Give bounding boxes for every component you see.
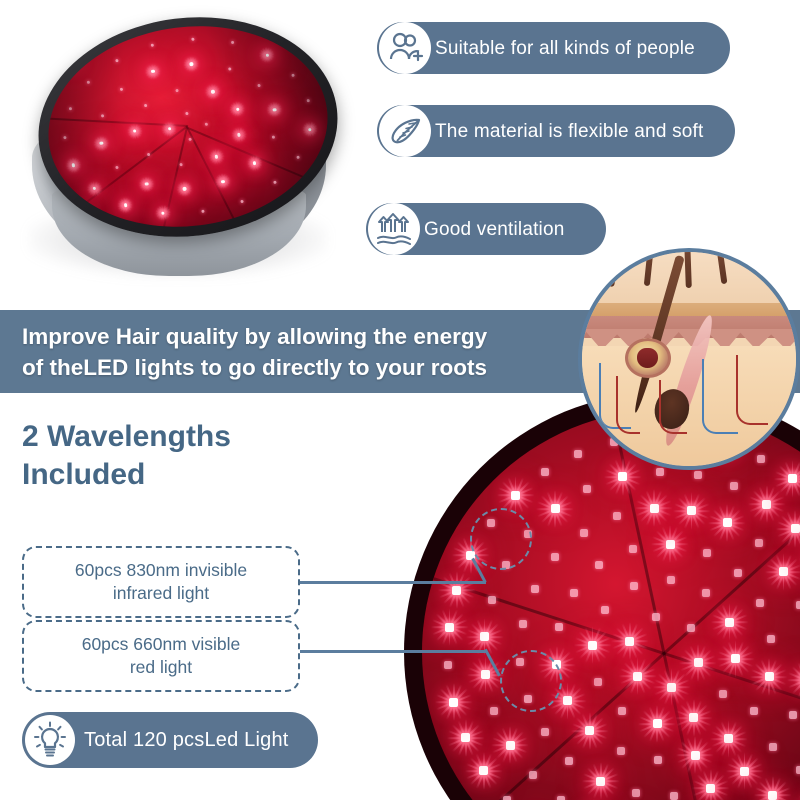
hair-follicle-diagram [578,248,800,470]
led-light [555,623,563,631]
cap-fabric-seam [187,127,317,184]
led-light [617,747,625,755]
panel-fabric-seam [664,652,800,730]
led-light [570,589,578,597]
led-light [731,654,740,663]
led-light [541,728,549,736]
led-light [271,136,274,139]
total-led-pill[interactable]: Total 120 pcsLed Light [22,712,318,768]
led-light [506,741,515,750]
led-light [273,181,276,184]
led-light [580,529,588,537]
feature-pill-ventilation[interactable]: Good ventilation [366,203,606,255]
total-led-label: Total 120 pcsLed Light [84,730,289,750]
led-light [273,108,277,112]
led-light [725,618,734,627]
led-light [789,711,797,719]
feature-pill-people[interactable]: Suitable for all kinds of people [377,22,730,74]
led-light [563,696,572,705]
led-light [691,751,700,760]
led-light [182,187,186,191]
led-light [588,641,597,650]
blood-vessel-artery-3 [659,380,687,433]
product-photo-cap [18,12,348,292]
led-light [190,62,194,66]
led-light [115,166,118,169]
led-light [755,539,763,547]
led-light [123,203,127,207]
led-light [594,678,602,686]
led-light [740,767,749,776]
cap-fabric-seam [48,117,188,126]
led-light [519,620,527,628]
cap-led-interior [37,11,339,243]
led-light [613,512,621,520]
led-light [767,635,775,643]
led-light [147,153,150,156]
led-light [796,601,800,609]
led-light [214,155,218,159]
led-light [253,161,257,165]
led-light [292,74,295,77]
led-light [151,70,155,74]
led-light [291,35,294,38]
led-light [133,129,137,133]
page-title: 2 Wavelengths Included [22,418,231,494]
dash-circle-red [500,650,562,712]
led-light [145,182,149,186]
led-light [667,576,675,584]
led-light [706,784,715,793]
led-light [304,192,307,195]
led-light [221,180,225,184]
led-light [779,567,788,576]
led-light [175,89,178,92]
led-light [666,540,675,549]
led-light [724,734,733,743]
led-light [687,506,696,515]
led-light [144,104,147,107]
led-light [689,713,698,722]
led-light [231,41,234,44]
led-light [595,561,603,569]
led-light [650,504,659,513]
led-light [461,733,470,742]
led-light [191,38,194,41]
led-light [449,698,458,707]
ventilation-icon [368,203,420,255]
led-light [240,199,243,202]
callout-text: 60pcs 660nm visible red light [82,633,241,679]
led-light [618,707,626,715]
led-light [120,88,123,91]
led-light [632,789,640,797]
feature-label: Good ventilation [424,220,565,239]
led-light [629,545,637,553]
callout-text: 60pcs 830nm invisible infrared light [75,559,247,605]
led-light [654,756,662,764]
led-light [723,518,732,527]
led-light [551,553,559,561]
led-light [565,757,573,765]
blood-vessel-artery-1 [616,376,639,434]
led-light [656,468,664,476]
led-light [228,67,231,70]
led-light [480,632,489,641]
feather-icon [379,105,431,157]
led-light [236,107,240,111]
led-light [694,471,702,479]
led-light [596,777,605,786]
blood-vessel-artery-2 [736,355,768,425]
led-light [765,672,774,681]
panel-fabric-seam [663,653,716,800]
led-light [308,128,312,132]
lightbulb-icon [25,715,75,765]
led-light [69,58,73,62]
led-light [702,589,710,597]
led-light [762,500,771,509]
led-light [257,84,260,87]
led-light [188,138,191,141]
led-light [531,585,539,593]
dash-circle-infrared [470,508,532,570]
led-light [796,766,800,774]
blood-vessel-vein-2 [702,359,738,434]
led-light [788,474,797,483]
callout-red-light: 60pcs 660nm visible red light [22,620,300,692]
led-light [511,491,520,500]
led-light [734,569,742,577]
led-light [574,450,582,458]
led-light [479,766,488,775]
led-light [64,136,67,139]
cap-fabric-seam [155,126,188,242]
led-light [583,485,591,493]
led-light [205,123,208,126]
led-light [306,99,309,102]
led-panel-surface [422,410,800,800]
led-light [99,141,103,145]
led-light [86,81,89,84]
led-light [101,114,104,117]
callout-infrared: 60pcs 830nm invisible infrared light [22,546,300,618]
led-light [585,726,594,735]
led-light [630,582,638,590]
led-light [179,163,182,166]
feature-label: The material is flexible and soft [435,122,704,141]
led-light [297,156,300,159]
sebaceous-gland [625,338,671,378]
led-light [756,599,764,607]
feature-label: Suitable for all kinds of people [435,39,695,58]
leader-line-infrared-h [300,581,486,584]
led-light [115,59,118,62]
led-light [445,623,454,632]
people-icon [379,22,431,74]
led-light [730,482,738,490]
led-light [769,743,777,751]
led-light [237,133,241,137]
led-light [557,796,565,800]
led-light [167,127,171,131]
led-light [72,163,76,167]
led-light [444,661,452,669]
led-light [93,187,97,191]
skin-hair-3 [684,248,692,288]
led-light [490,707,498,715]
product-infographic: Suitable for all kinds of people The mat… [0,0,800,800]
led-light [161,211,165,215]
leader-line-red-h [300,650,486,653]
feature-pill-material[interactable]: The material is flexible and soft [377,105,735,157]
led-light [541,468,549,476]
led-light [211,90,215,94]
led-light [81,214,85,218]
led-light [481,670,490,679]
led-light [202,210,205,213]
led-light [185,112,188,115]
led-light [750,707,758,715]
led-light [151,44,154,47]
led-light [670,792,678,800]
led-light [768,791,777,800]
led-light [265,53,269,57]
led-light [551,504,560,513]
panel-fabric-seam [663,490,800,654]
led-light [703,549,711,557]
cap-fabric-seam [75,125,188,211]
led-light [601,606,609,614]
led-light [69,108,72,111]
panel-fabric-seam [433,577,664,655]
led-light [719,690,727,698]
led-light [653,719,662,728]
